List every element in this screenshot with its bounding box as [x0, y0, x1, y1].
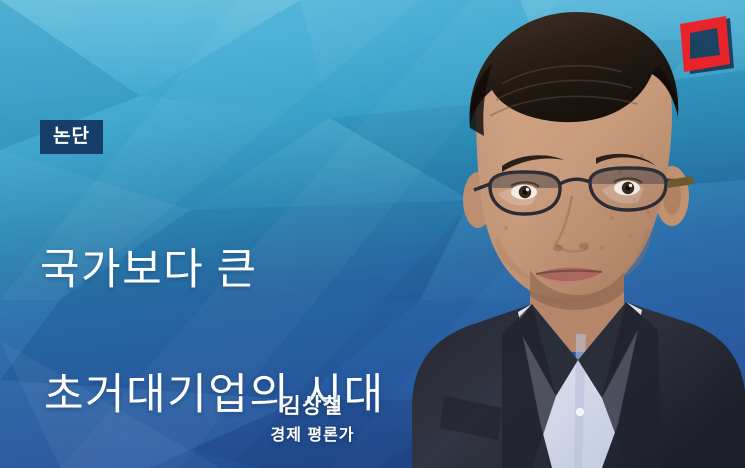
kicker-badge: 논단 — [40, 120, 103, 154]
headline-line-2: 초거대기업의 시대 — [40, 365, 460, 427]
headline-line-1: 국가보다 큰 — [40, 240, 460, 302]
publisher-logo[interactable] — [676, 14, 736, 78]
article-cover-card: 논단 국가보다 큰 초거대기업의 시대 김상철 경제 평론가 — [0, 0, 745, 468]
headline-block: 논단 국가보다 큰 초거대기업의 시대 — [40, 120, 460, 468]
page-title: 국가보다 큰 초거대기업의 시대 — [40, 178, 460, 468]
